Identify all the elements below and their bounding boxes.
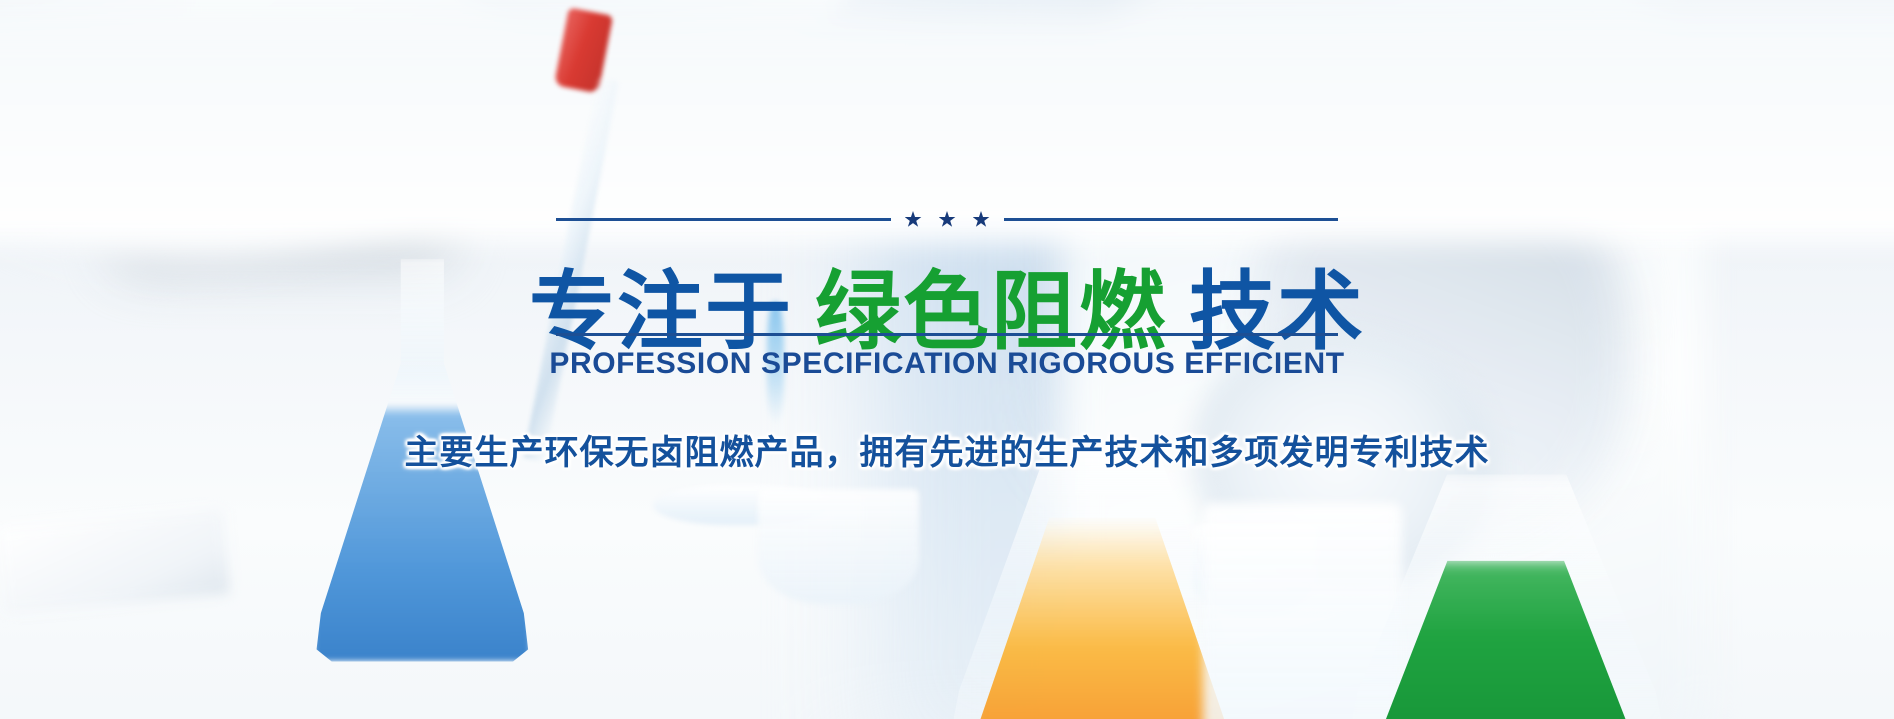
subtitle-english: PROFESSION SPECIFICATION RIGOROUS EFFICI… xyxy=(549,347,1344,381)
bottom-divider xyxy=(556,333,1338,336)
top-divider-with-stars xyxy=(556,211,1338,228)
hero-banner: 专注于绿色阻燃技术 PROFESSION SPECIFICATION RIGOR… xyxy=(0,0,1894,719)
divider-left xyxy=(556,218,891,221)
star-icon xyxy=(905,211,922,228)
star-group xyxy=(905,211,990,228)
divider-right xyxy=(1004,218,1339,221)
star-icon xyxy=(939,211,956,228)
banner-content: 专注于绿色阻燃技术 PROFESSION SPECIFICATION RIGOR… xyxy=(0,0,1894,719)
star-icon xyxy=(973,211,990,228)
subtitle-chinese: 主要生产环保无卤阻燃产品，拥有先进的生产技术和多项发明专利技术 xyxy=(405,425,1490,474)
